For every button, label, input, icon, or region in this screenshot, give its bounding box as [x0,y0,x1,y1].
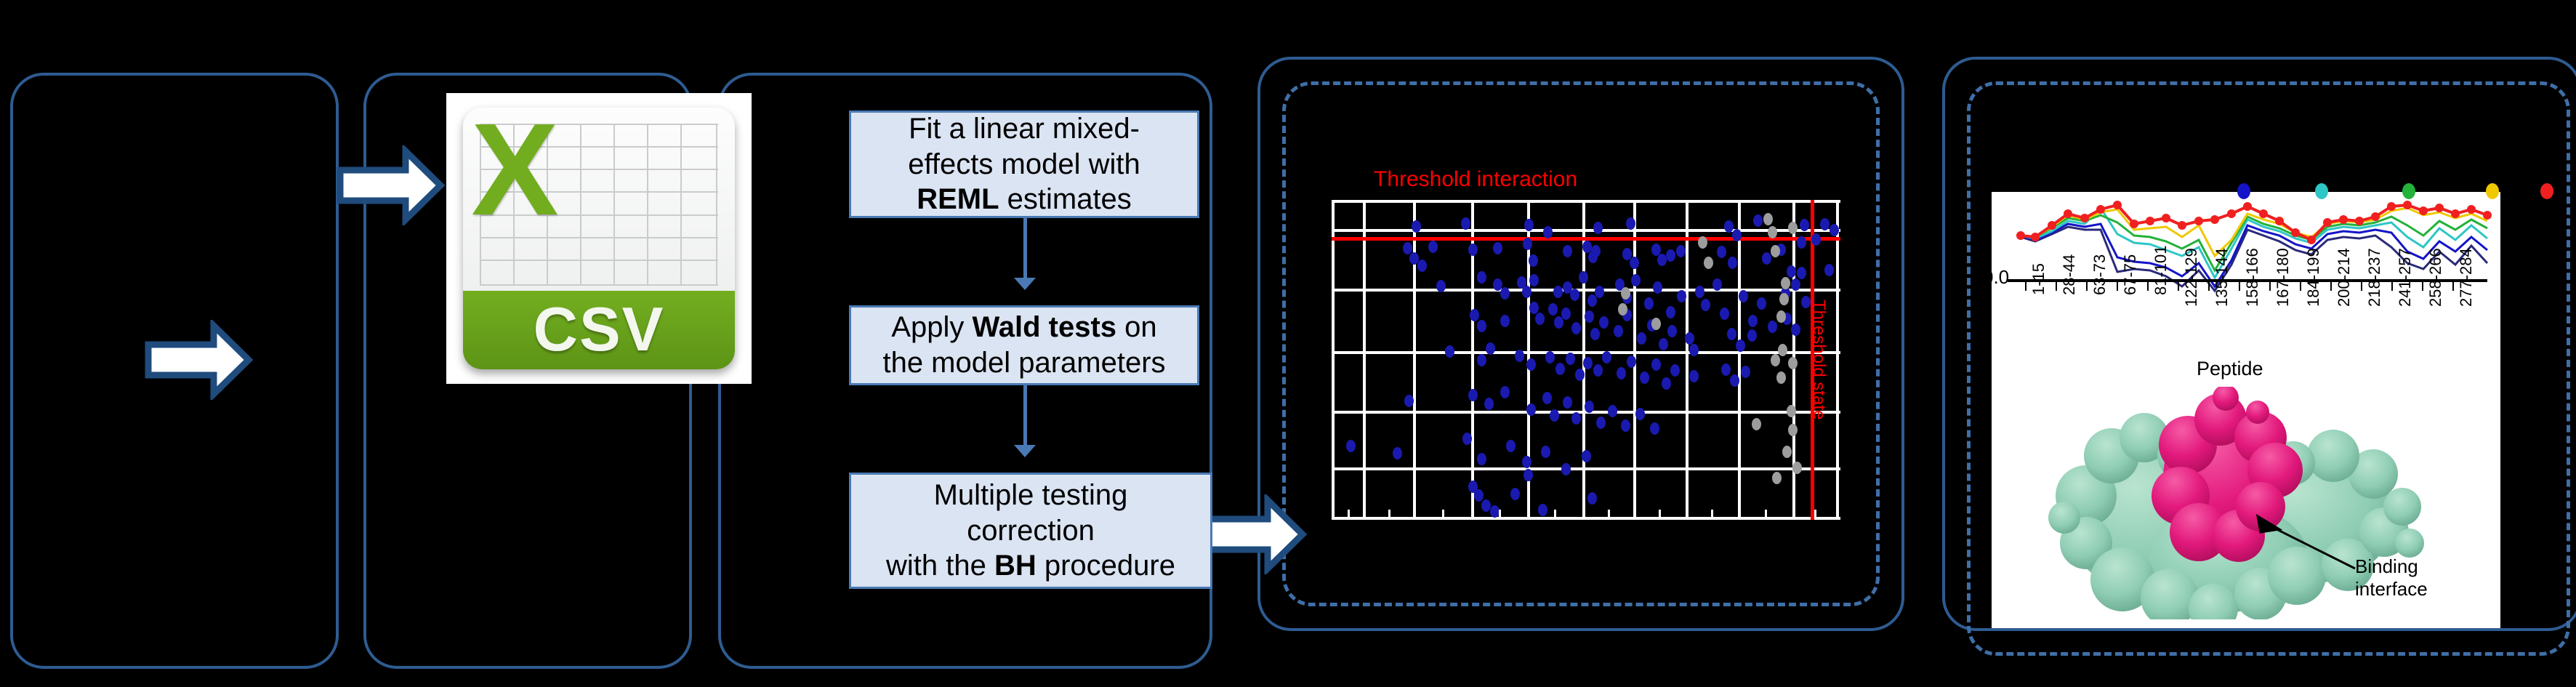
wald-line1-post: on [1116,311,1157,343]
scatter-plot: Threshold interaction [1308,102,1861,611]
x-axis-title: Peptide [2197,358,2263,380]
connector-2-arrowhead [1014,445,1036,457]
xtick-label: 28-44 [2060,254,2079,295]
xtick-label: 218-237 [2365,248,2384,307]
csv-label-band: CSV [463,291,735,369]
arrow-statistics-to-results [1198,494,1307,574]
connector-1 [1023,218,1027,279]
gridline-h [1332,517,1840,520]
fit-model-step[interactable]: Fit a linear mixed- effects model with R… [849,111,1199,218]
legend-dot-yellow [2486,183,2499,199]
bh-line3-post: procedure [1037,550,1175,582]
arrow-csv-to-statistics [336,145,445,225]
fit-model-line3-post: estimates [999,183,1132,215]
xtick-label: 122-129 [2182,248,2201,307]
connector-2 [1023,385,1027,446]
scatter-plot-area [1332,200,1840,520]
threshold-state-label: Threshold state [1808,300,1829,419]
xtick-label: 241-257 [2396,248,2415,307]
gridline-h [1332,200,1840,203]
bh-line3-pre: with the [886,550,994,582]
xtick-label: 167-180 [2274,248,2293,307]
xtick-label: 184-199 [2304,248,2323,307]
xtick-label: 67-75 [2121,254,2140,295]
xtick-label: 258-266 [2426,248,2445,307]
xtick-label: 277-284 [2457,248,2476,307]
gridline-h [1332,229,1840,232]
gridline-h [1332,351,1840,354]
xtick-label: 1-15 [2029,263,2048,295]
binding-interface-line1: Binding [2355,555,2428,578]
xtick-label: 135-144 [2213,248,2231,307]
xtick-label: 200-214 [2335,248,2354,307]
xtick-label: 158-166 [2243,248,2262,307]
bh-correction-step[interactable]: Multiple testing correction with the BH … [849,473,1212,589]
csv-file-icon: X CSV [446,93,752,384]
bh-line1: Multiple testing [934,479,1128,511]
csv-label: CSV [534,294,665,366]
csv-x-letter: X [471,108,558,236]
binding-interface-label: Binding interface [2355,555,2428,600]
arrow-input-to-csv [144,320,253,400]
wald-line2: the model parameters [882,347,1165,379]
legend-dot-green [2402,183,2415,199]
gridline-v [1686,200,1689,520]
legend-dot-cyan [2315,183,2328,199]
xtick-label: 63-73 [2090,254,2109,295]
wald-line1-bold: Wald tests [973,311,1117,343]
y-tick-0: 0.0 [1992,266,2009,289]
gridline-v [1413,200,1416,520]
binding-interface-line2: interface [2355,578,2428,600]
peptide-figure: 0.0 1-15 28-44 63-73 67-75 81-101 122-12… [1992,192,2500,628]
scatter-title: Threshold interaction [1374,167,1577,192]
fit-model-line1: Fit a linear mixed- [909,113,1140,145]
gridline-h [1332,467,1840,470]
fit-model-line2: effects model with [908,148,1140,180]
bh-line3-bold: BH [994,550,1037,582]
legend-dot-blue [2237,183,2250,199]
fit-model-reml: REML [917,183,999,215]
xtick-label: 81-101 [2152,245,2170,295]
gridline-v [1363,200,1366,520]
wald-tests-step[interactable]: Apply Wald tests on the model parameters [849,305,1199,385]
gridline-v [1836,200,1839,520]
connector-1-arrowhead [1014,278,1036,290]
gridline-v [1738,200,1741,520]
legend-dot-red [2540,183,2553,199]
wald-line1-pre: Apply [891,311,972,343]
bh-line2: correction [967,515,1095,547]
gridline-v [1332,200,1335,520]
gridline-h [1332,289,1840,292]
csv-icon-body: X CSV [463,108,735,369]
